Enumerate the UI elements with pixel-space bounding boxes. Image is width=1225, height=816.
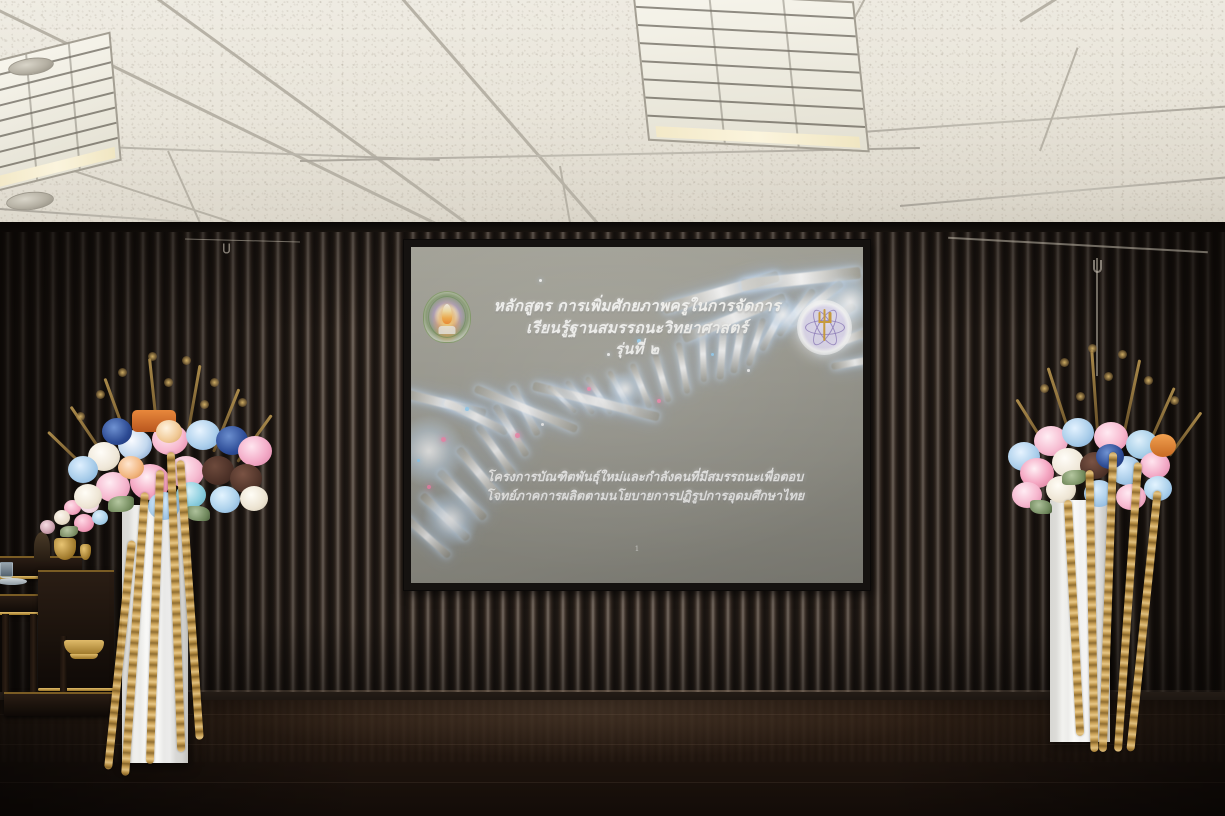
cable-hook-icon bbox=[1093, 260, 1102, 273]
altar-base bbox=[4, 692, 114, 716]
flower bbox=[156, 420, 182, 443]
flower bbox=[186, 420, 220, 450]
water-glass bbox=[0, 562, 13, 578]
altar-gold-trim bbox=[38, 688, 114, 691]
bouquet-left bbox=[60, 360, 270, 550]
altar-table bbox=[0, 540, 114, 718]
leaf bbox=[186, 506, 210, 521]
slide-title: หลักสูตร การเพิ่มศักยภาพครูในการจัดการ เ… bbox=[411, 295, 863, 360]
flower bbox=[68, 456, 98, 483]
flower bbox=[40, 520, 55, 534]
altar-leg bbox=[30, 614, 37, 692]
flower bbox=[1150, 434, 1176, 457]
flower bbox=[210, 486, 240, 513]
ceiling bbox=[0, 0, 1225, 242]
slide-page-number: 1 bbox=[411, 545, 863, 553]
wall-hook-icon-left bbox=[223, 243, 230, 253]
gold-bowl-foot bbox=[70, 654, 98, 659]
slide-title-line-2: เรียนรู้ฐานสมรรถนะวิทยาศาสตร์ bbox=[425, 317, 849, 339]
altar-leg bbox=[2, 614, 9, 692]
ceiling-light-fixture-right bbox=[632, 0, 870, 152]
projection-screen[interactable]: หลักสูตร การเพิ่มศักยภาพครูในการจัดการ เ… bbox=[404, 240, 870, 590]
flower bbox=[238, 436, 272, 466]
slide-subtitle-line-2: โจทย์ภาคการผลิตตามนโยบายการปฏิรูปการอุดม… bbox=[433, 487, 857, 506]
slide-subtitle: โครงการบัณฑิตพันธุ์ใหม่และกำลังคนที่มีสม… bbox=[433, 468, 857, 506]
flower bbox=[118, 456, 144, 479]
slide-title-line-3: รุ่นที่ ๒ bbox=[425, 339, 849, 360]
leaf bbox=[1030, 500, 1052, 514]
leaf bbox=[1062, 470, 1086, 485]
room-photo-scene: หลักสูตร การเพิ่มศักยภาพครูในการจัดการ เ… bbox=[0, 0, 1225, 816]
flower bbox=[1062, 418, 1094, 447]
flower bbox=[102, 418, 132, 445]
slide-title-line-1: หลักสูตร การเพิ่มศักยภาพครูในการจัดการ bbox=[425, 295, 849, 317]
helix-glow bbox=[607, 371, 643, 407]
flower bbox=[74, 484, 102, 509]
flower bbox=[240, 486, 268, 511]
bouquet-right bbox=[1000, 348, 1200, 538]
slide-subtitle-line-1: โครงการบัณฑิตพันธุ์ใหม่และกำลังคนที่มีสม… bbox=[433, 468, 857, 487]
leaf bbox=[108, 496, 134, 512]
altar-cabinet bbox=[38, 570, 114, 692]
screen-surface: หลักสูตร การเพิ่มศักยภาพครูในการจัดการ เ… bbox=[411, 247, 863, 583]
altar-plate bbox=[0, 578, 27, 585]
gold-offering-bowl bbox=[64, 640, 104, 655]
